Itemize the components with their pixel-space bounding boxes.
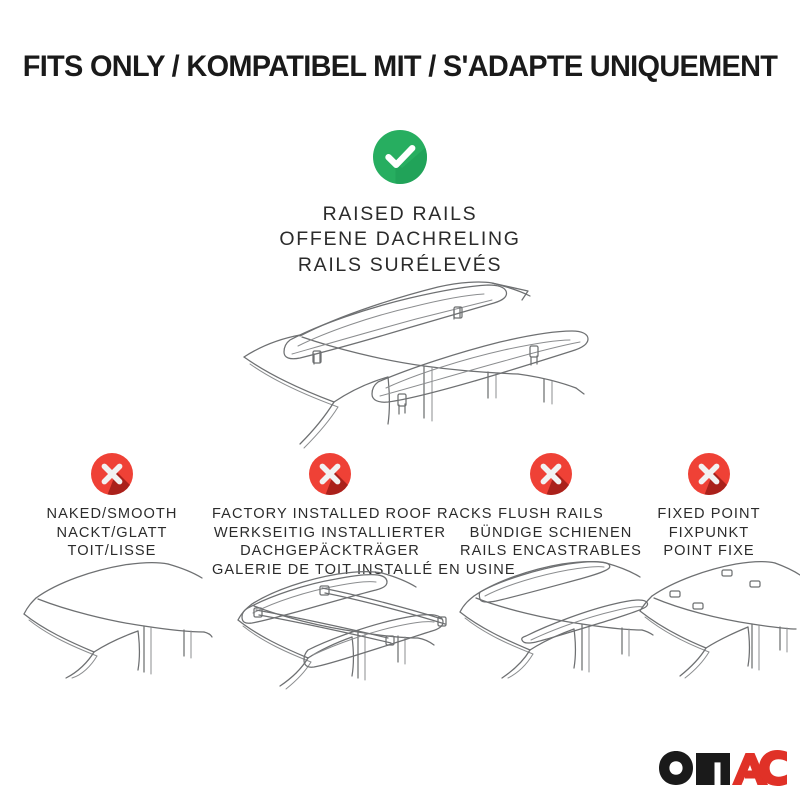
logo-letter-o xyxy=(659,751,693,785)
page-title: FITS ONLY / KOMPATIBEL MIT / S'ADAPTE UN… xyxy=(8,50,792,84)
label-line: WERKSEITIG INSTALLIERTER xyxy=(212,524,448,543)
green-check-circle-icon xyxy=(371,128,429,186)
incompatible-item-factory-roof-racks: FACTORY INSTALLED ROOF RACKS WERKSEITIG … xyxy=(212,452,448,580)
car-roof-with-flush-rails-illustration xyxy=(448,548,654,678)
label-line: DACHGEPÄCKTRÄGER xyxy=(212,542,448,561)
incompatible-item-naked-smooth: NAKED/SMOOTH NACKT/GLATT TOIT/LISSE xyxy=(12,452,212,561)
red-x-circle-icon xyxy=(687,452,731,496)
label-line: NAKED/SMOOTH xyxy=(12,505,212,524)
compatible-labels: RAISED RAILS OFFENE DACHRELING RAILS SUR… xyxy=(0,202,800,278)
red-x-circle-icon xyxy=(308,452,352,496)
omac-logo xyxy=(658,750,788,786)
car-roof-with-factory-crossbars-illustration xyxy=(212,562,448,692)
car-roof-with-raised-rails-illustration xyxy=(192,278,612,468)
car-roof-with-fixed-points-illustration xyxy=(630,548,788,678)
label-line: FACTORY INSTALLED ROOF RACKS xyxy=(212,505,448,524)
label-line: BÜNDIGE SCHIENEN xyxy=(448,524,654,543)
label-line: NACKT/GLATT xyxy=(12,524,212,543)
label-line: FIXPUNKT xyxy=(630,524,788,543)
label-line: FIXED POINT xyxy=(630,505,788,524)
red-x-circle-icon xyxy=(529,452,573,496)
incompatible-item-fixed-point: FIXED POINT FIXPUNKT POINT FIXE xyxy=(630,452,788,561)
incompatible-section: NAKED/SMOOTH NACKT/GLATT TOIT/LISSE xyxy=(0,452,800,692)
red-x-circle-icon xyxy=(90,452,134,496)
compatible-label-de: OFFENE DACHRELING xyxy=(0,227,800,252)
compatible-label-fr: RAILS SURÉLEVÉS xyxy=(0,253,800,278)
incompatible-item-flush-rails: FLUSH RAILS BÜNDIGE SCHIENEN RAILS ENCAS… xyxy=(448,452,654,561)
car-roof-naked-smooth-illustration xyxy=(12,548,212,678)
compatible-section: RAISED RAILS OFFENE DACHRELING RAILS SUR… xyxy=(0,128,800,278)
label-line: FLUSH RAILS xyxy=(448,505,654,524)
compatible-label-en: RAISED RAILS xyxy=(0,202,800,227)
